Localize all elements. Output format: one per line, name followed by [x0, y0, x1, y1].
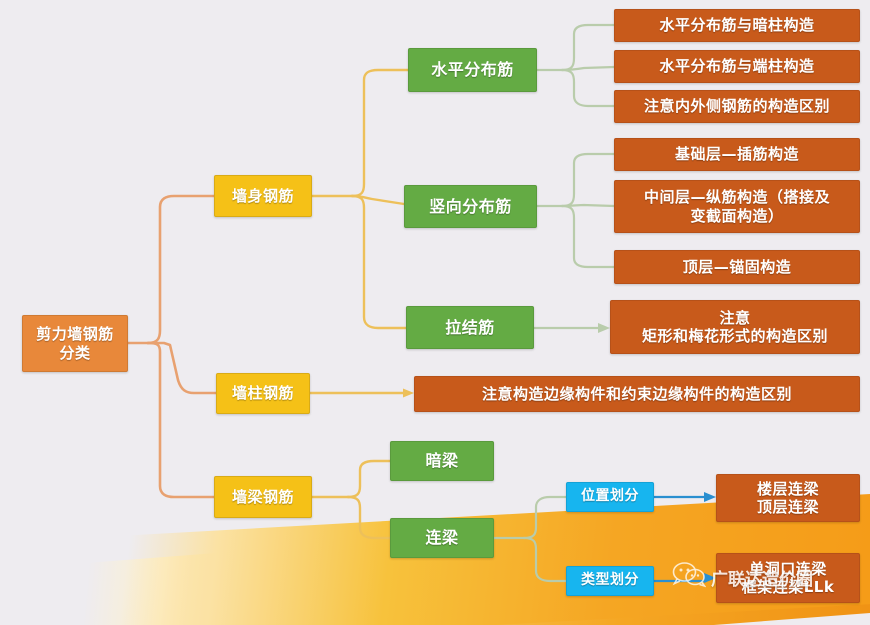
leaf-floor-and-top-coupling-beam[interactable]: 楼层连梁 顶层连梁	[716, 474, 860, 522]
leaf-top-layer-anchorage[interactable]: 顶层—锚固构造	[614, 250, 860, 284]
link-wallbody-to-horizontal	[352, 70, 408, 196]
leaf-rect-vs-plum-pattern[interactable]: 注意 矩形和梅花形式的构造区别	[610, 300, 860, 354]
node-wall-beam-rebar[interactable]: 墙梁钢筋	[214, 476, 312, 518]
leaf-single-opening-frame-coupling-beam[interactable]: 单洞口连梁 框架连梁LLk	[716, 553, 860, 603]
link-vertical-leaf3	[562, 206, 614, 267]
link-root-to-wallbody	[148, 196, 214, 343]
node-root[interactable]: 剪力墙钢筋 分类	[22, 315, 128, 372]
leaf-horizontal-with-concealed-column[interactable]: 水平分布筋与暗柱构造	[614, 9, 860, 42]
link-horizontal-leaf1	[562, 25, 614, 70]
node-tie-rebar[interactable]: 拉结筋	[406, 306, 534, 349]
arrowhead-type	[704, 573, 716, 583]
link-vertical-leaf1	[562, 154, 614, 206]
node-horizontal-distribution-rebar[interactable]: 水平分布筋	[408, 48, 537, 92]
link-root-to-wallcolumn	[148, 343, 216, 393]
link-wallbody-to-vertical	[352, 196, 404, 204]
arrowhead-position	[704, 492, 716, 502]
leaf-inner-outer-rebar-difference[interactable]: 注意内外侧钢筋的构造区别	[614, 90, 860, 123]
leaf-middle-layer-longitudinal[interactable]: 中间层—纵筋构造（搭接及 变截面构造）	[614, 180, 860, 233]
arrowhead-tie	[598, 323, 610, 333]
leaf-horizontal-with-end-column[interactable]: 水平分布筋与端柱构造	[614, 50, 860, 83]
link-horizontal-leaf2	[562, 67, 614, 70]
node-concealed-beam[interactable]: 暗梁	[390, 441, 494, 481]
link-horizontal-leaf3	[562, 70, 614, 106]
link-lianliang-to-position	[524, 497, 566, 538]
link-wallbeam-to-lianliang	[348, 497, 390, 538]
node-divide-by-position[interactable]: 位置划分	[566, 482, 654, 512]
arrowhead-wallcolumn	[403, 389, 414, 398]
link-root-to-wallbeam	[148, 343, 214, 497]
node-wall-body-rebar[interactable]: 墙身钢筋	[214, 175, 312, 217]
node-coupling-beam[interactable]: 连梁	[390, 518, 494, 558]
node-divide-by-type[interactable]: 类型划分	[566, 566, 654, 596]
leaf-edge-member-difference[interactable]: 注意构造边缘构件和约束边缘构件的构造区别	[414, 376, 860, 412]
node-wall-column-rebar[interactable]: 墙柱钢筋	[216, 373, 310, 414]
node-vertical-distribution-rebar[interactable]: 竖向分布筋	[404, 185, 537, 228]
link-wallbeam-to-anliang	[348, 461, 390, 497]
link-lianliang-to-type	[524, 538, 566, 581]
link-vertical-leaf2	[562, 205, 614, 206]
link-wallbody-to-tie	[352, 196, 406, 328]
wechat-icon	[672, 562, 706, 592]
leaf-foundation-dowel[interactable]: 基础层—插筋构造	[614, 138, 860, 171]
mindmap-canvas: 剪力墙钢筋 分类 墙身钢筋 墙柱钢筋 墙梁钢筋 水平分布筋 竖向分布筋 拉结筋 …	[0, 0, 870, 625]
